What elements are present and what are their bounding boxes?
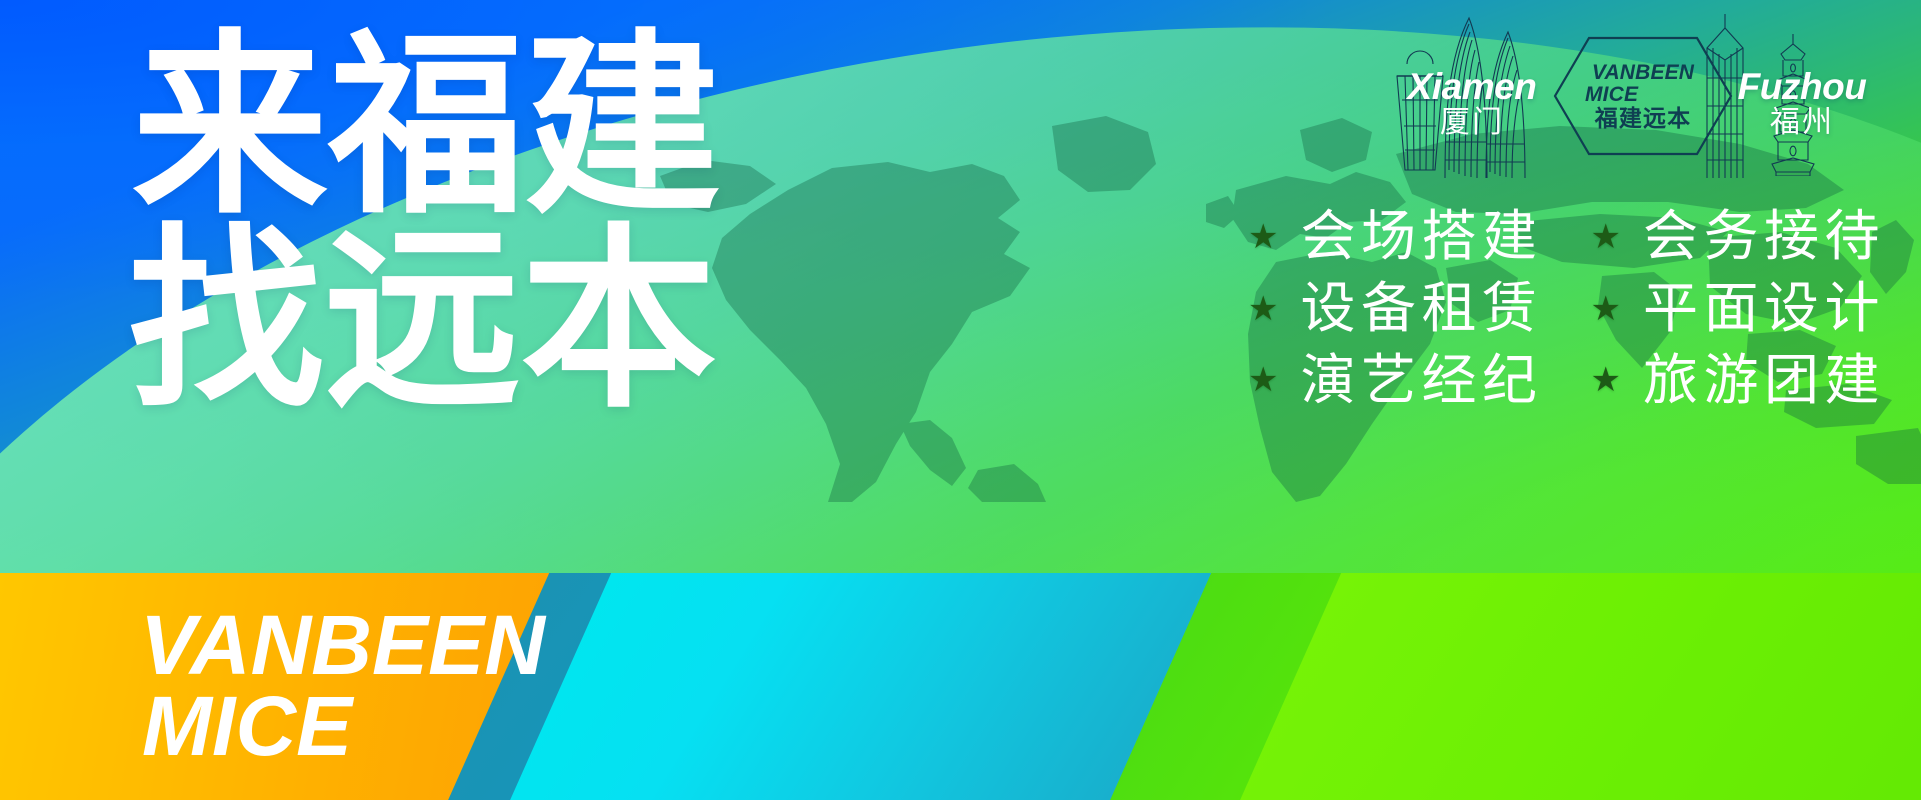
service-label: 会务接待 xyxy=(1643,208,1885,266)
wordmark-line-2: MICE xyxy=(142,686,545,767)
hex-logo-text: VANBEEN MICE 福建远本 xyxy=(1551,34,1735,158)
wordmark-line-1: VANBEEN xyxy=(140,605,545,686)
star-icon: ★ xyxy=(1591,292,1621,326)
service-item-2: ★ 设备租赁 xyxy=(1248,280,1543,338)
vanbeen-mice-wordmark: VANBEEN MICE xyxy=(140,605,545,768)
hex-logo-en-line2: MICE xyxy=(1585,84,1638,105)
service-item-0: ★ 会场搭建 xyxy=(1248,208,1543,266)
service-label: 演艺经纪 xyxy=(1300,352,1542,410)
vanbeen-mice-hex-logo: VANBEEN MICE 福建远本 xyxy=(1551,34,1735,158)
star-icon: ★ xyxy=(1591,363,1621,397)
city-label-fuzhou: Fuzhou 福州 xyxy=(1713,68,1891,140)
city-landmark-cluster: VANBEEN MICE 福建远本 Xiamen 厦门 Fuzhou 福州 xyxy=(1379,6,1899,186)
hex-logo-cn: 福建远本 xyxy=(1595,108,1692,131)
headline-line-1: 来福建 xyxy=(132,30,721,224)
star-icon: ★ xyxy=(1248,292,1278,326)
service-item-3: ★ 平面设计 xyxy=(1591,280,1886,338)
city-name-en: Fuzhou xyxy=(1713,68,1891,105)
service-item-1: ★ 会务接待 xyxy=(1591,208,1886,266)
promotional-banner: 来福建 找远本 ★ 会场搭建 ★ 会务接待 ★ 设备租赁 ★ 平面设计 ★ xyxy=(0,0,1921,800)
city-name-cn: 福州 xyxy=(1713,105,1891,140)
city-label-xiamen: Xiamen 厦门 xyxy=(1387,68,1557,140)
star-icon: ★ xyxy=(1248,220,1278,254)
hex-logo-en-line1: VANBEEN xyxy=(1592,62,1694,83)
service-item-5: ★ 旅游团建 xyxy=(1591,352,1886,410)
page-title: 来福建 找远本 xyxy=(132,30,721,418)
service-label: 平面设计 xyxy=(1643,280,1885,338)
service-item-4: ★ 演艺经纪 xyxy=(1248,352,1543,410)
service-label: 设备租赁 xyxy=(1300,280,1542,338)
headline-line-2: 找远本 xyxy=(128,224,721,418)
city-name-cn: 厦门 xyxy=(1387,105,1557,140)
star-icon: ★ xyxy=(1248,363,1278,397)
service-label: 会场搭建 xyxy=(1300,208,1542,266)
diagonal-band-green-light xyxy=(1230,573,1921,800)
banner-bottom-strip: VANBEEN MICE xyxy=(0,573,1921,800)
city-name-en: Xiamen xyxy=(1387,68,1557,105)
services-list: ★ 会场搭建 ★ 会务接待 ★ 设备租赁 ★ 平面设计 ★ 演艺经纪 ★ 旅游团… xyxy=(1248,208,1885,409)
service-label: 旅游团建 xyxy=(1643,352,1885,410)
star-icon: ★ xyxy=(1591,220,1621,254)
banner-main-area: 来福建 找远本 ★ 会场搭建 ★ 会务接待 ★ 设备租赁 ★ 平面设计 ★ xyxy=(0,0,1921,573)
